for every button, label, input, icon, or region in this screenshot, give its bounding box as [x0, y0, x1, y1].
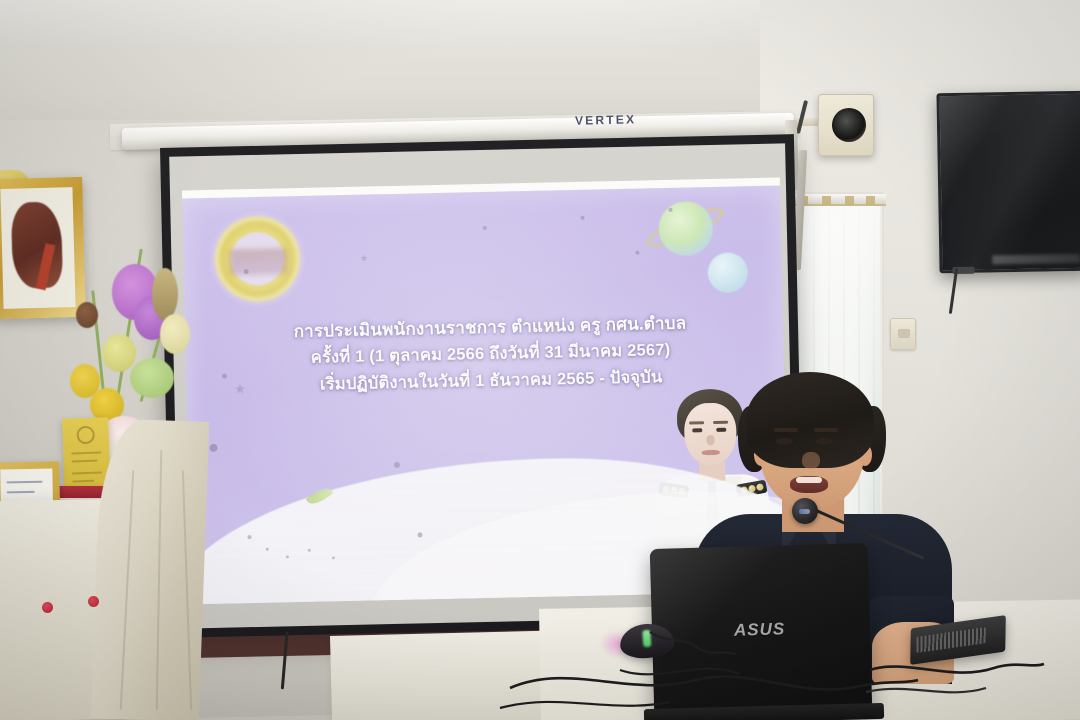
microphone-cable	[866, 652, 1046, 712]
presenter-nose	[802, 452, 820, 469]
star-icon: ★	[359, 254, 368, 264]
decor-dot	[209, 444, 217, 452]
decor-dot	[244, 269, 249, 274]
blind-clip	[845, 196, 854, 205]
bubble-icon	[707, 252, 748, 293]
blind-clip	[866, 196, 875, 205]
plaque-line	[71, 451, 101, 454]
plaque-line	[72, 460, 98, 463]
decor-dot	[483, 226, 487, 230]
cctv-lens-icon	[832, 108, 866, 142]
mouse-cable	[648, 626, 738, 666]
decor-dot	[222, 374, 227, 379]
microphone-head	[792, 498, 818, 524]
decor-dot	[247, 535, 251, 539]
decor-dot	[286, 555, 289, 558]
flower-petal-cream	[102, 334, 136, 372]
decor-dot	[266, 548, 269, 551]
projector-brand-label: VERTEX	[575, 112, 637, 127]
decor-dot	[417, 532, 422, 537]
drape-rosette	[88, 596, 99, 607]
wall-mounted-television[interactable]	[936, 91, 1080, 274]
blind-clip	[822, 196, 831, 205]
decor-dot	[394, 462, 400, 468]
presenter-eye	[816, 438, 833, 445]
drape-rosette	[42, 602, 53, 613]
flower-petal-cream	[160, 314, 190, 354]
room-scene: VERTEX ★ ★ ก	[0, 0, 1080, 720]
plaque-line	[72, 480, 94, 483]
tv-brand-label-blur	[992, 254, 1080, 265]
decor-dot	[332, 556, 335, 559]
microphone-grill	[916, 627, 986, 653]
decor-dot	[668, 208, 672, 212]
presenter-eyebrow	[774, 428, 798, 432]
certificate-line	[7, 491, 35, 493]
decor-dot	[635, 251, 639, 255]
seal-inner-text-blur	[229, 248, 288, 275]
laptop-brand-logo: ASUS	[734, 619, 786, 640]
tv-screen-reflection	[939, 94, 1080, 270]
plaque-line	[72, 471, 102, 474]
decor-dot	[581, 216, 585, 220]
plaque-emblem-icon	[76, 426, 95, 445]
decor-dot	[308, 549, 311, 552]
presenter-eyebrow	[814, 428, 838, 432]
certificate-line	[7, 481, 43, 484]
presenter-teeth	[796, 477, 822, 483]
wall-outlet[interactable]	[890, 318, 916, 350]
flower-bud-brown	[76, 302, 98, 328]
planet-icon	[658, 201, 713, 256]
table-drape	[91, 418, 209, 720]
presenter-eye	[776, 438, 793, 445]
flower-spike	[152, 268, 178, 320]
flower-petal-green	[130, 358, 174, 398]
